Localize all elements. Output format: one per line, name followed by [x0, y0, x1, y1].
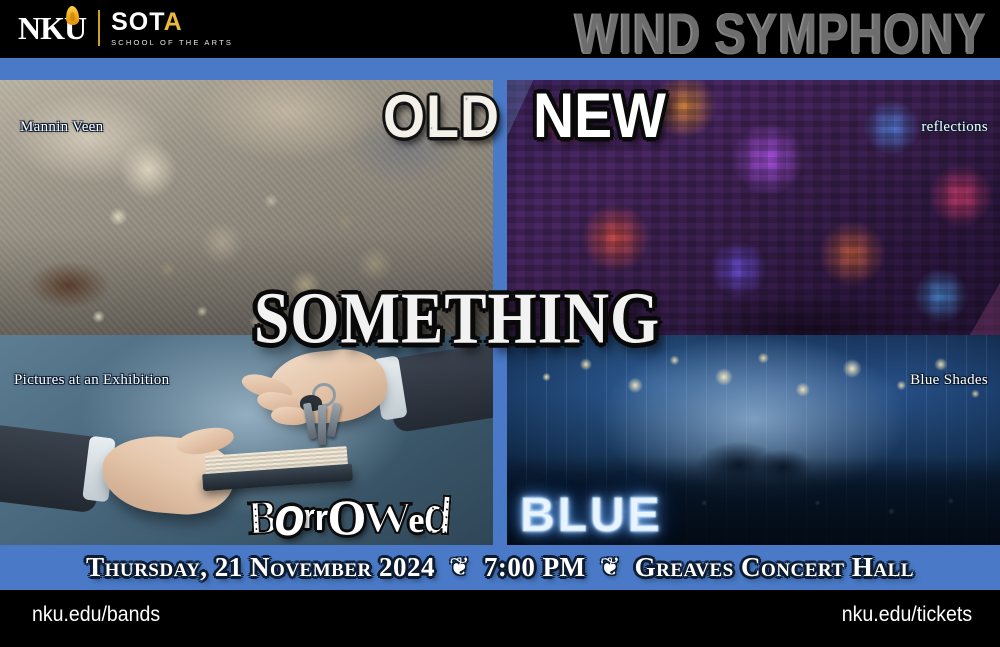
- sota-block: SOTA SCHOOL OF THE ARTS: [111, 10, 233, 47]
- concert-poster: NKU SOTA SCHOOL OF THE ARTS WIND SYMPHON…: [0, 0, 1000, 647]
- borrowed-letter-8: d: [422, 490, 454, 545]
- piece-label-mannin-veen: Mannin Veen: [20, 119, 103, 136]
- overlay-word-new: NEW: [533, 85, 666, 148]
- overlay-word-something: SOMETHING: [254, 282, 660, 355]
- sota-text-main: SOT: [111, 8, 164, 36]
- borrowed-letter-2: o: [275, 491, 304, 545]
- sota-subtitle: SCHOOL OF THE ARTS: [111, 38, 233, 47]
- borrowed-letter-1: B: [247, 493, 278, 543]
- piece-label-pictures-at-an-exhibition: Pictures at an Exhibition: [14, 372, 169, 389]
- event-venue: Greaves Concert Hall: [635, 552, 914, 583]
- sota-wordmark: SOTA: [111, 10, 233, 35]
- logo-divider: [98, 10, 100, 46]
- piece-label-reflections: reflections: [921, 119, 988, 136]
- borrowed-letter-4: r: [314, 500, 327, 536]
- borrowed-letter-3: r: [302, 500, 314, 534]
- overlay-word-old: OLD: [383, 87, 500, 147]
- key-blade-3: [327, 403, 341, 438]
- poster-header: NKU SOTA SCHOOL OF THE ARTS WIND SYMPHON…: [0, 0, 1000, 58]
- flame-icon: [66, 6, 80, 26]
- poster-footer: nku.edu/bands nku.edu/tickets: [0, 590, 1000, 647]
- event-time: 7:00 PM: [484, 552, 586, 583]
- event-details-bar: Thursday, 21 November 2024 ❦ 7:00 PM ❦ G…: [0, 545, 1000, 590]
- book-icon: [201, 446, 353, 492]
- fleuron-ornament-1: ❦: [449, 555, 470, 580]
- nku-sota-logo: NKU SOTA SCHOOL OF THE ARTS: [18, 6, 233, 50]
- nku-wordmark: NKU: [18, 11, 86, 45]
- fleuron-ornament-2: ❦: [600, 555, 621, 580]
- piece-label-blue-shades: Blue Shades: [910, 372, 988, 389]
- overlay-word-blue: BLUE: [520, 492, 663, 540]
- borrowed-letter-5: O: [328, 492, 366, 542]
- borrowed-letter-6: W: [362, 496, 411, 540]
- link-nku-tickets[interactable]: nku.edu/tickets: [842, 603, 972, 627]
- event-date: Thursday, 21 November 2024: [86, 552, 435, 583]
- sota-text-accent: A: [164, 8, 183, 36]
- link-nku-bands[interactable]: nku.edu/bands: [32, 603, 160, 627]
- overlay-word-borrowed: BorrOWed: [248, 492, 452, 542]
